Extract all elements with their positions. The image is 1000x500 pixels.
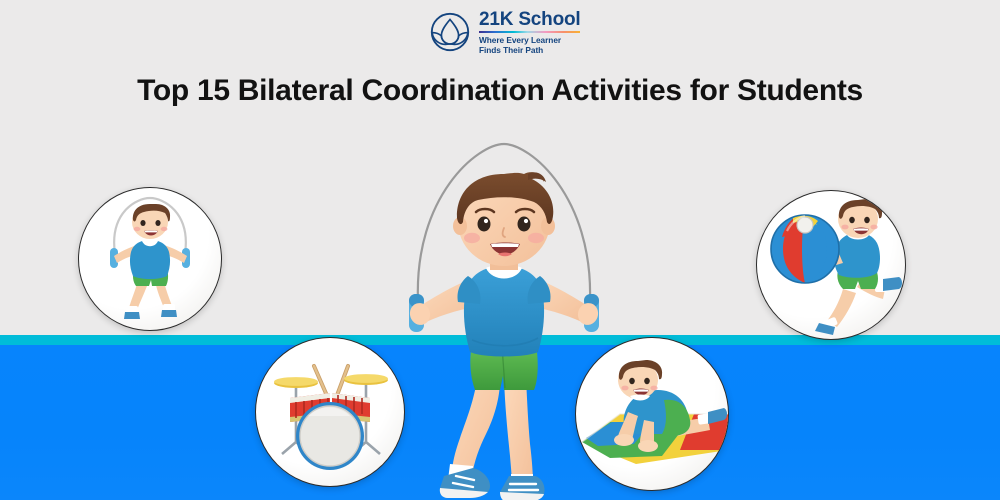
- brand-tagline-line2: Finds Their Path: [479, 45, 580, 55]
- circle-beach-ball: [756, 190, 906, 340]
- brand-logo[interactable]: 21K School Where Every Learner Finds The…: [428, 10, 580, 55]
- circle-jump-rope: [78, 187, 222, 331]
- brand-name: 21K School: [479, 10, 580, 29]
- brand-gradient-rule: [479, 31, 580, 34]
- banner-root: 21K School Where Every Learner Finds The…: [0, 0, 1000, 500]
- circle-drum-kit: [255, 337, 405, 487]
- brand-tagline: Where Every Learner Finds Their Path: [479, 35, 580, 55]
- circle-crawling-mat: [575, 337, 729, 491]
- lotus-circle-icon: [428, 10, 472, 54]
- brand-tagline-line1: Where Every Learner: [479, 35, 580, 45]
- page-title: Top 15 Bilateral Coordination Activities…: [0, 74, 1000, 108]
